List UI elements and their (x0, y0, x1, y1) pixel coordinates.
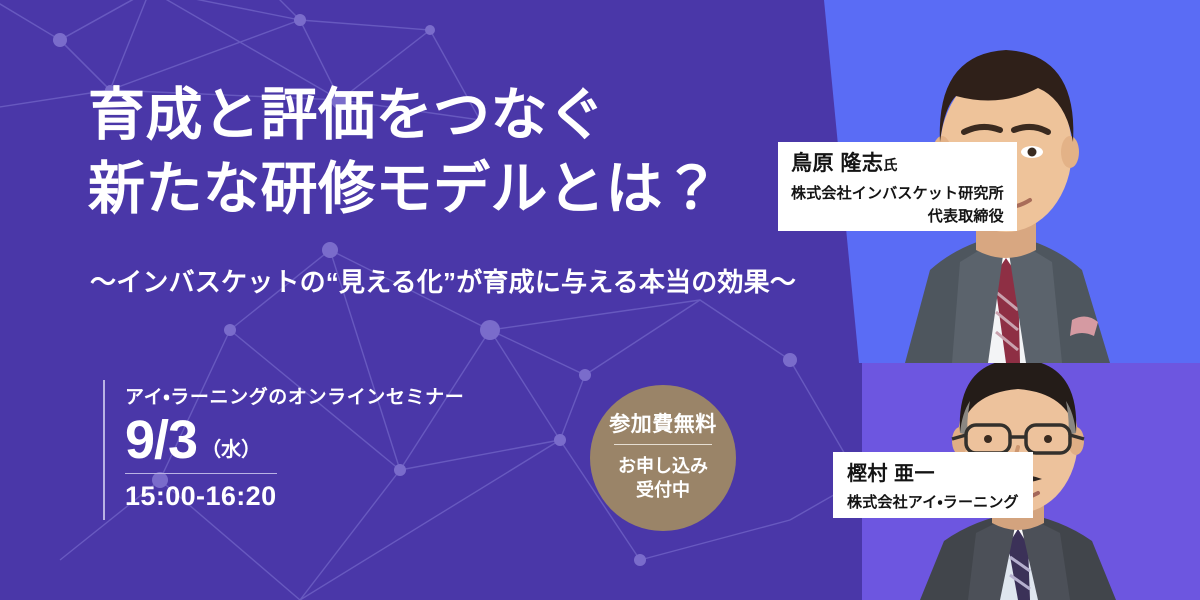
speaker-1-name: 鳥原 隆志 (791, 152, 883, 175)
badge-divider (614, 444, 712, 445)
badge-apply-label: お申し込み 受付中 (618, 455, 708, 501)
badge-apply-line2: 受付中 (636, 480, 690, 500)
seminar-banner: 育成と評価をつなぐ 新たな研修モデルとは？ 〜インバスケットの“見える化”が育成… (0, 0, 1200, 600)
title-line-2: 新たな研修モデルとは？ (88, 152, 788, 226)
speaker-nameplate-2: 樫村 亜一 株式会社アイ・ラーニング (833, 452, 1033, 518)
event-time: 15:00-16:20 (125, 481, 464, 512)
speaker-1-organization: 株式会社インバスケット研究所 (778, 180, 1017, 204)
speaker-2-name: 樫村 亜一 (833, 452, 1033, 489)
event-date-row: 9/3 （水） (125, 411, 464, 469)
free-admission-badge: 参加費無料 お申し込み 受付中 (590, 385, 736, 531)
event-date-block: アイ・ラーニングのオンラインセミナー 9/3 （水） 15:00-16:20 (103, 380, 464, 520)
speaker-1-name-suffix: 氏 (883, 157, 898, 173)
speaker-2-organization: 株式会社アイ・ラーニング (833, 489, 1033, 518)
speaker-1-role: 代表取締役 (778, 204, 1017, 231)
date-divider (125, 473, 277, 474)
speaker-1-name-row: 鳥原 隆志氏 (778, 142, 1017, 180)
event-eyebrow: アイ・ラーニングのオンラインセミナー (125, 382, 464, 409)
badge-free-label: 参加費無料 (609, 414, 717, 435)
event-date: 9/3 (125, 411, 197, 469)
event-day-of-week: （水） (201, 433, 261, 462)
title-line-1: 育成と評価をつなぐ (88, 78, 788, 152)
badge-apply-line1: お申し込み (618, 456, 708, 476)
title-block: 育成と評価をつなぐ 新たな研修モデルとは？ (88, 78, 788, 226)
subtitle: 〜インバスケットの“見える化”が育成に与える本当の効果〜 (90, 262, 796, 299)
speaker-nameplate-1: 鳥原 隆志氏 株式会社インバスケット研究所 代表取締役 (778, 142, 1017, 231)
